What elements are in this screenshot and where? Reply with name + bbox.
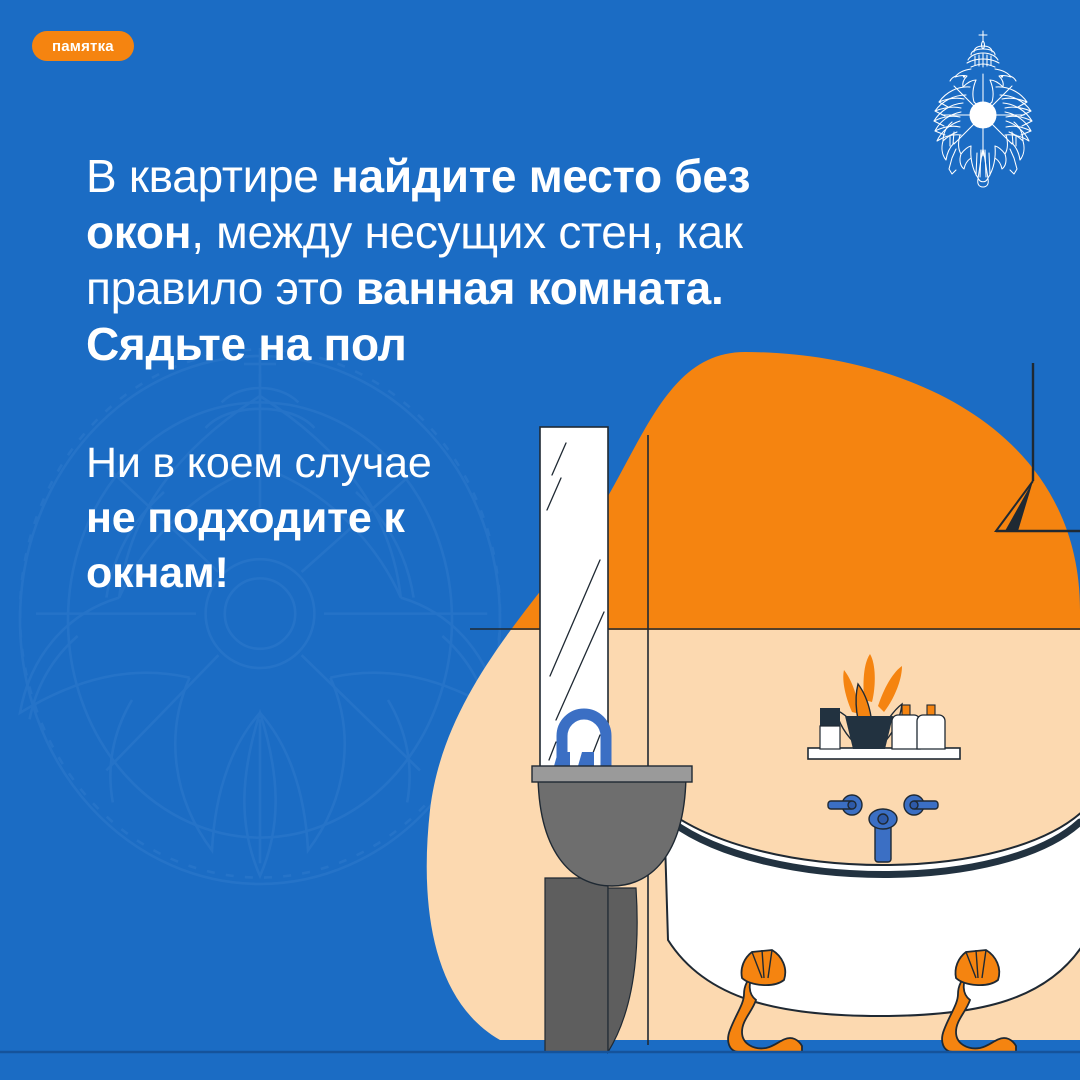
shelf-bottle-dark bbox=[820, 708, 840, 749]
subline-bold-1: не подходите к окнам! bbox=[86, 494, 405, 597]
pamyatka-badge[interactable]: памятка bbox=[32, 31, 134, 61]
emchs-emblem bbox=[908, 24, 1058, 189]
badge-label: памятка bbox=[52, 38, 114, 55]
headline-part-1: В квартире bbox=[86, 150, 331, 202]
subline-text: Ни в коем случае не подходите к окнам! bbox=[86, 436, 556, 601]
poster-canvas: памятка bbox=[0, 0, 1080, 1080]
headline-text: В квартире найдите место без окон, между… bbox=[86, 148, 816, 372]
subline-part-1: Ни в коем случае bbox=[86, 439, 432, 487]
